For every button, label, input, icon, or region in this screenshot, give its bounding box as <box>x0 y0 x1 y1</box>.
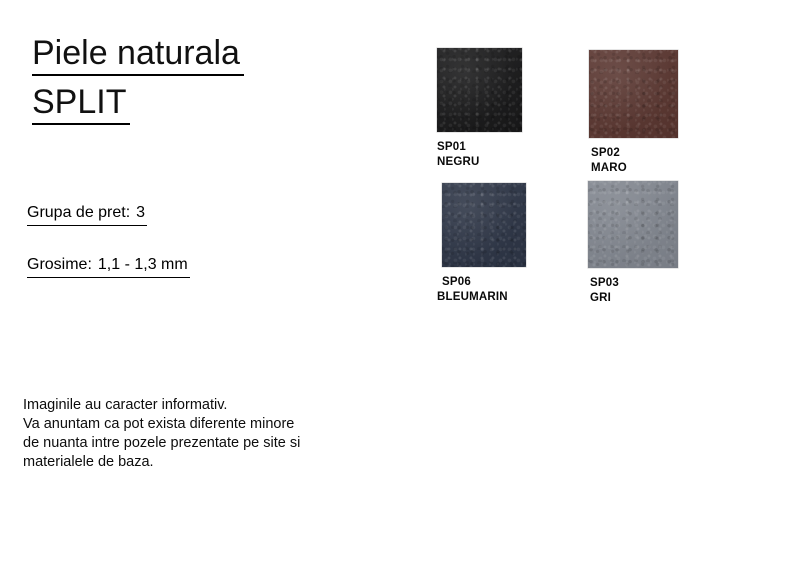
swatch-color-chip-sp06[interactable] <box>442 183 526 267</box>
swatch-sheen <box>437 48 522 132</box>
disclaimer-line-2: Va anuntam ca pot exista diferente minor… <box>23 415 300 434</box>
leather-grain-texture <box>589 50 678 138</box>
swatch-code: SP02 <box>591 146 678 161</box>
swatch-name: NEGRU <box>437 155 522 170</box>
spec-thickness-inner: Grosime:1,1 - 1,3 mm <box>27 255 190 278</box>
spec-thickness-label: Grosime: <box>27 256 92 273</box>
disclaimer-line-3: de nuanta intre pozele prezentate pe sit… <box>23 434 300 453</box>
swatch-color-chip-sp03[interactable] <box>588 181 678 268</box>
page-title: Piele naturala SPLIT <box>32 33 244 125</box>
leather-grain-texture <box>588 181 678 268</box>
swatch-label-sp03: SP03 GRI <box>590 276 678 305</box>
swatch-item-sp02[interactable]: SP02 MARO <box>589 50 678 175</box>
spec-price-group-label: Grupa de pret: <box>27 204 130 221</box>
swatch-sheen <box>442 183 526 267</box>
disclaimer-line-4: materialele de baza. <box>23 453 300 472</box>
swatch-name: BLEUMARIN <box>437 290 526 305</box>
color-swatch-grid: SP01 NEGRU SP02 MARO SP06 BLEUMARIN SP03 <box>420 0 800 566</box>
swatch-code: SP06 <box>442 275 526 290</box>
title-line-secondary-text: SPLIT <box>32 82 130 125</box>
leather-grain-texture <box>437 48 522 132</box>
swatch-item-sp03[interactable]: SP03 GRI <box>588 181 678 305</box>
swatch-name: GRI <box>590 291 678 306</box>
swatch-name: MARO <box>591 161 678 176</box>
left-info-column: Piele naturala SPLIT Grupa de pret:3 Gro… <box>0 0 420 566</box>
title-line-secondary: SPLIT <box>32 82 244 125</box>
title-line-primary-text: Piele naturala <box>32 33 244 76</box>
spec-thickness-value: 1,1 - 1,3 mm <box>98 256 188 273</box>
swatch-color-chip-sp02[interactable] <box>589 50 678 138</box>
swatch-sheen <box>589 50 678 138</box>
swatch-label-sp06: SP06 BLEUMARIN <box>437 275 526 304</box>
swatch-label-sp02: SP02 MARO <box>591 146 678 175</box>
title-line-primary: Piele naturala <box>32 33 244 76</box>
swatch-item-sp01[interactable]: SP01 NEGRU <box>437 48 522 169</box>
disclaimer-text: Imaginile au caracter informativ. Va anu… <box>23 396 300 472</box>
swatch-code: SP03 <box>590 276 678 291</box>
spec-thickness: Grosime:1,1 - 1,3 mm <box>27 255 190 278</box>
leather-grain-texture <box>442 183 526 267</box>
swatch-label-sp01: SP01 NEGRU <box>437 140 522 169</box>
swatch-color-chip-sp01[interactable] <box>437 48 522 132</box>
swatch-sheen <box>588 181 678 268</box>
spec-price-group: Grupa de pret:3 <box>27 203 147 226</box>
swatch-code: SP01 <box>437 140 522 155</box>
spec-price-group-inner: Grupa de pret:3 <box>27 203 147 226</box>
disclaimer-line-1: Imaginile au caracter informativ. <box>23 396 300 415</box>
spec-price-group-value: 3 <box>136 204 145 221</box>
swatch-item-sp06[interactable]: SP06 BLEUMARIN <box>442 183 526 304</box>
